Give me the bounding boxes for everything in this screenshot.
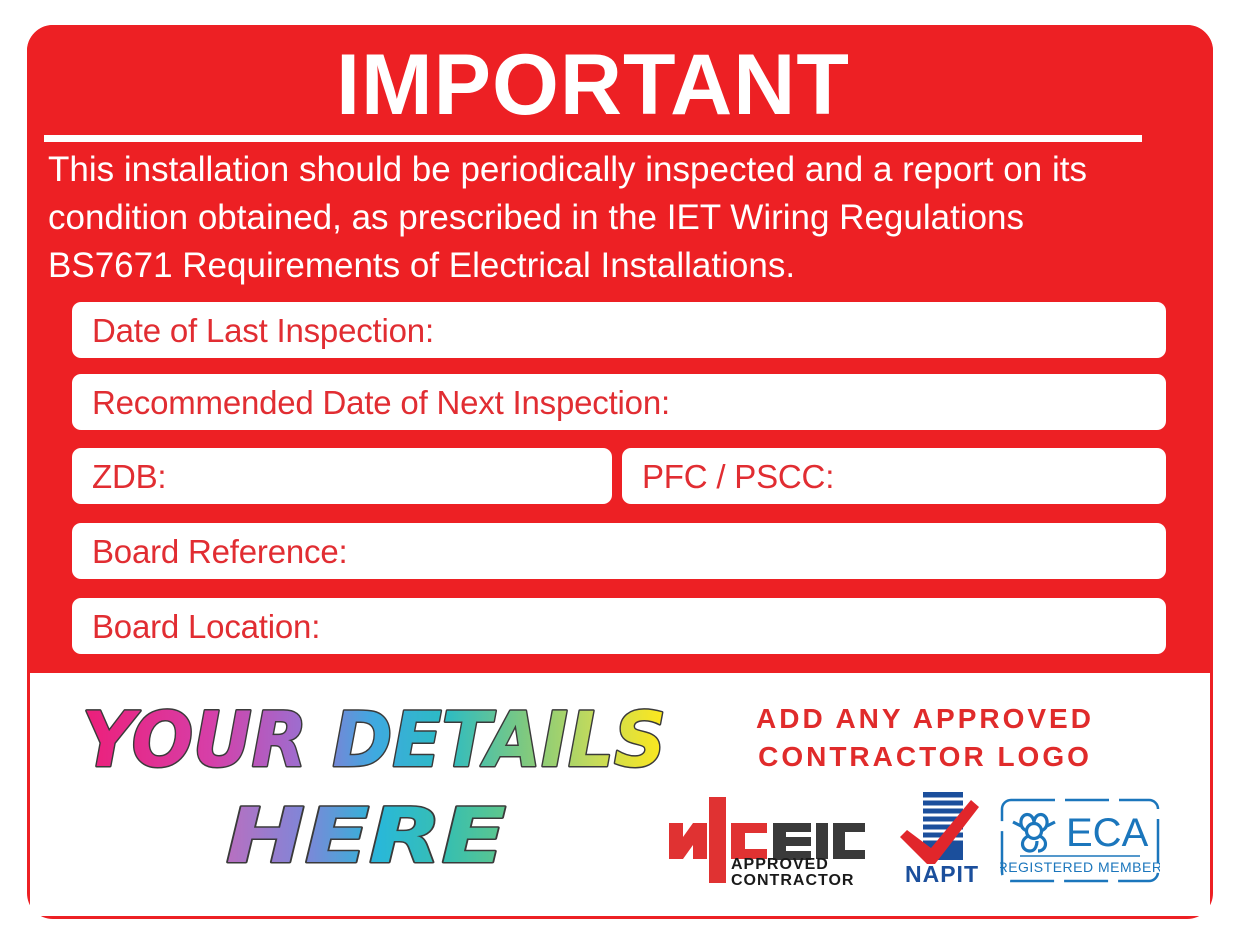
niceic-approved-text: APPROVED: [731, 856, 829, 873]
inspection-label: IMPORTANT This installation should be pe…: [0, 0, 1240, 945]
field-pfc-pscc[interactable]: PFC / PSCC:: [622, 448, 1166, 504]
graffiti-line-2: HERE: [226, 791, 506, 874]
field-recommended-date-of-next-inspection[interactable]: Recommended Date of Next Inspection:: [72, 374, 1166, 430]
field-board-location[interactable]: Board Location:: [72, 598, 1166, 654]
graffiti-line-1: YOUR DETAILS: [82, 695, 666, 784]
field-board-reference[interactable]: Board Reference:: [72, 523, 1166, 579]
field-label: Board Reference:: [72, 535, 347, 568]
page-title: IMPORTANT: [0, 42, 1186, 128]
your-details-here-graphic: YOUR DETAILS HERE: [78, 694, 678, 874]
eca-wordmark: ECA: [1066, 811, 1149, 855]
napit-wordmark: NAPIT: [905, 861, 979, 885]
field-label: Date of Last Inspection:: [72, 314, 434, 347]
field-zdb[interactable]: ZDB:: [72, 448, 612, 504]
niceic-logo: APPROVED CONTRACTOR: [665, 795, 870, 890]
napit-logo: NAPIT: [895, 790, 990, 890]
notice-body-text: This installation should be periodically…: [48, 146, 1152, 290]
eca-registered-member-text: REGISTERED MEMBER: [1000, 859, 1160, 875]
field-label: Recommended Date of Next Inspection:: [72, 386, 670, 419]
add-logo-line-2: CONTRACTOR LOGO: [700, 738, 1150, 776]
field-label: Board Location:: [72, 610, 320, 643]
add-logo-line-1: ADD ANY APPROVED: [700, 700, 1150, 738]
field-label: ZDB:: [72, 460, 166, 493]
field-label: PFC / PSCC:: [622, 460, 834, 493]
eca-logo: ECA REGISTERED MEMBER: [1000, 798, 1160, 888]
approved-contractor-logos: APPROVED CONTRACTOR: [665, 790, 1165, 890]
title-divider: [44, 135, 1142, 142]
add-contractor-logo-text: ADD ANY APPROVED CONTRACTOR LOGO: [700, 700, 1150, 776]
niceic-contractor-text: CONTRACTOR: [731, 872, 854, 885]
field-date-of-last-inspection[interactable]: Date of Last Inspection:: [72, 302, 1166, 358]
